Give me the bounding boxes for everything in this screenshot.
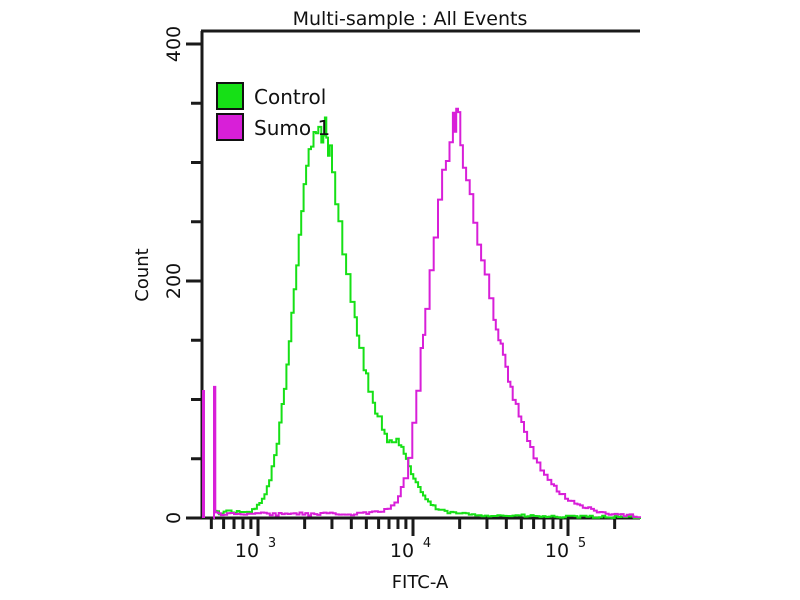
x-tick-label-exponent: 5 xyxy=(578,536,586,551)
chart-canvas: Multi-sample : All Events 0200400 Count … xyxy=(0,0,800,600)
y-tick-label: 400 xyxy=(163,26,185,62)
y-tick-label: 200 xyxy=(163,263,185,299)
x-tick-label-base: 10 xyxy=(235,540,259,562)
chart-background xyxy=(0,0,800,600)
y-tick-label: 0 xyxy=(163,512,185,524)
flow-cytometry-histogram: Multi-sample : All Events 0200400 Count … xyxy=(0,0,800,600)
x-tick-label-base: 10 xyxy=(390,540,414,562)
legend-label-sumo-1: Sumo 1 xyxy=(254,116,330,140)
legend-label-control: Control xyxy=(254,85,326,109)
x-tick-label-exponent: 3 xyxy=(268,536,276,551)
x-tick-label-base: 10 xyxy=(545,540,569,562)
x-tick-label-exponent: 4 xyxy=(423,536,431,551)
legend-swatch-sumo-1 xyxy=(217,114,243,140)
x-axis-title: FITC-A xyxy=(392,572,449,593)
legend-swatch-control xyxy=(217,83,243,109)
chart-title: Multi-sample : All Events xyxy=(293,8,528,30)
y-axis-title: Count xyxy=(132,248,153,301)
